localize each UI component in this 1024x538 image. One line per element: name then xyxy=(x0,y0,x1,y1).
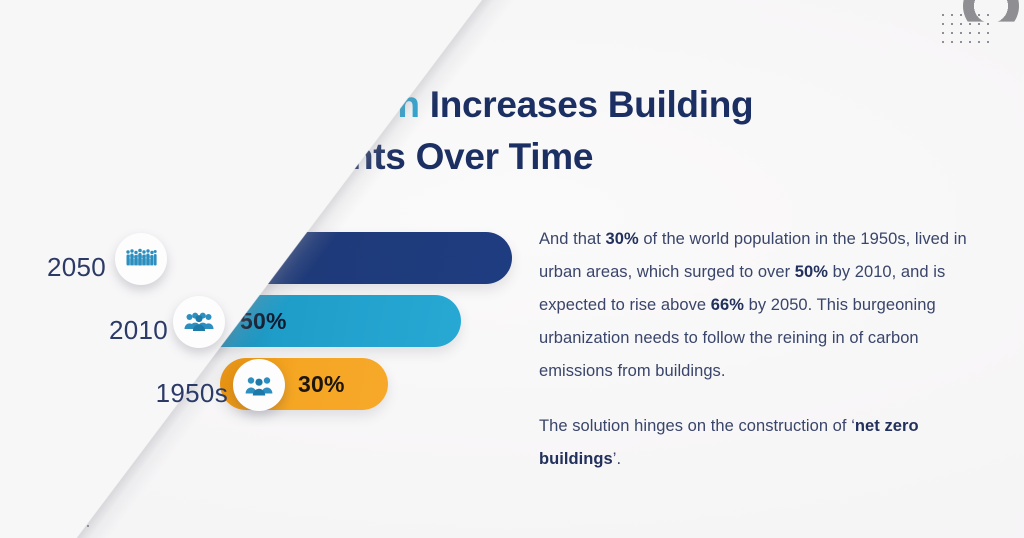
title-rest-line1: Increases Building xyxy=(420,84,754,125)
infographic-slide: Rapid Urbanization Increases Building Ca… xyxy=(0,0,1024,538)
page-title: Rapid Urbanization Increases Building Ca… xyxy=(88,79,928,184)
category-label-1950s: 1950s xyxy=(82,378,228,409)
p1-bold-30: 30% xyxy=(606,230,639,248)
bar-value-2050: 66% xyxy=(183,232,230,284)
dot-grid-top-right-icon xyxy=(942,14,996,50)
title-line2: Carbon Footprints Over Time xyxy=(88,136,593,177)
paragraph-1: And that 30% of the world population in … xyxy=(539,223,987,388)
category-label-2010: 2010 xyxy=(22,315,168,346)
bar-value-2010: 50% xyxy=(240,295,287,347)
badge-2050 xyxy=(115,233,167,285)
paragraph-2: The solution hinges on the construction … xyxy=(539,410,987,476)
people-trio-icon xyxy=(244,374,274,397)
p1-bold-66: 66% xyxy=(711,296,744,314)
category-label-2050: 2050 xyxy=(0,252,106,283)
p1-bold-50: 50% xyxy=(795,263,828,281)
p1-part1: And that xyxy=(539,230,606,248)
title-highlight: Rapid Urbanization xyxy=(88,84,420,125)
people-group-icon xyxy=(183,310,215,334)
body-copy: And that 30% of the world population in … xyxy=(539,223,987,476)
badge-1950s xyxy=(233,359,285,411)
crowd-icon xyxy=(125,247,157,271)
p2-part1: The solution hinges on the construction … xyxy=(539,417,851,435)
p2-part2: . xyxy=(617,450,622,468)
dot-grid-bottom-left-icon xyxy=(42,516,96,534)
badge-2010 xyxy=(173,296,225,348)
bar-value-1950s: 30% xyxy=(298,358,345,410)
